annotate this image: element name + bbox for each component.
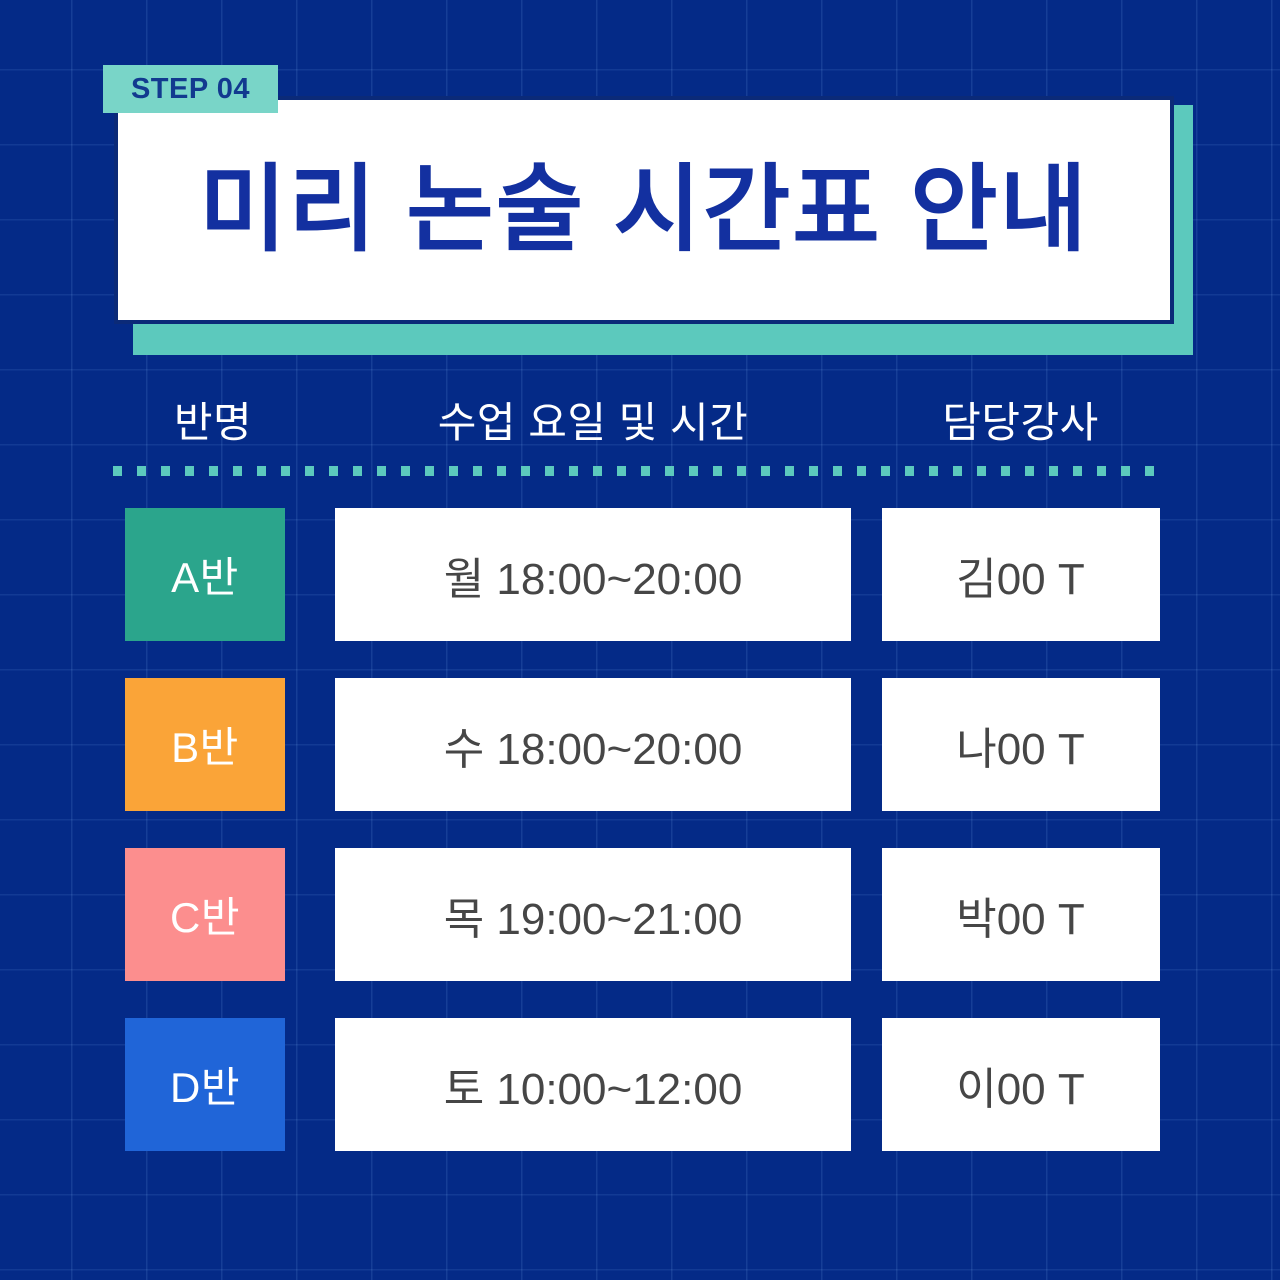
class-badge: C반 (125, 848, 285, 981)
table-header-row: 반명 수업 요일 및 시간 담당강사 (113, 368, 1168, 444)
schedule-table: 반명 수업 요일 및 시간 담당강사 A반 월 18:00~20:00 김00 … (113, 368, 1168, 1188)
class-badge: A반 (125, 508, 285, 641)
schedule-value: 수 18:00~20:00 (335, 678, 851, 811)
teacher-value: 김00 T (882, 508, 1160, 641)
class-badge-cell: D반 (113, 1018, 313, 1151)
teacher-value: 이00 T (882, 1018, 1160, 1151)
schedule-cell: 월 18:00~20:00 (313, 508, 873, 641)
class-badge: B반 (125, 678, 285, 811)
table-row: D반 토 10:00~12:00 이00 T (113, 1018, 1168, 1151)
teacher-cell: 박00 T (873, 848, 1168, 981)
table-row: B반 수 18:00~20:00 나00 T (113, 678, 1168, 811)
page-title: 미리 논술 시간표 안내 (199, 163, 1089, 258)
dashed-divider (113, 466, 1168, 476)
class-badge-cell: A반 (113, 508, 313, 641)
table-row: A반 월 18:00~20:00 김00 T (113, 508, 1168, 641)
schedule-cell: 토 10:00~12:00 (313, 1018, 873, 1151)
schedule-cell: 수 18:00~20:00 (313, 678, 873, 811)
class-badge: D반 (125, 1018, 285, 1151)
step-badge: STEP 04 (103, 65, 278, 113)
teacher-cell: 김00 T (873, 508, 1168, 641)
class-badge-cell: C반 (113, 848, 313, 981)
title-card: 미리 논술 시간표 안내 (114, 96, 1174, 324)
schedule-value: 토 10:00~12:00 (335, 1018, 851, 1151)
class-badge-cell: B반 (113, 678, 313, 811)
teacher-cell: 나00 T (873, 678, 1168, 811)
teacher-cell: 이00 T (873, 1018, 1168, 1151)
schedule-cell: 목 19:00~21:00 (313, 848, 873, 981)
teacher-value: 나00 T (882, 678, 1160, 811)
table-body: A반 월 18:00~20:00 김00 T B반 수 18:00~20:00 … (113, 508, 1168, 1151)
step-badge-label: STEP 04 (131, 73, 250, 106)
table-row: C반 목 19:00~21:00 박00 T (113, 848, 1168, 981)
schedule-value: 목 19:00~21:00 (335, 848, 851, 981)
column-header-teacher: 담당강사 (873, 402, 1168, 444)
column-header-schedule: 수업 요일 및 시간 (313, 402, 873, 444)
column-header-class-name: 반명 (113, 402, 313, 444)
schedule-value: 월 18:00~20:00 (335, 508, 851, 641)
teacher-value: 박00 T (882, 848, 1160, 981)
